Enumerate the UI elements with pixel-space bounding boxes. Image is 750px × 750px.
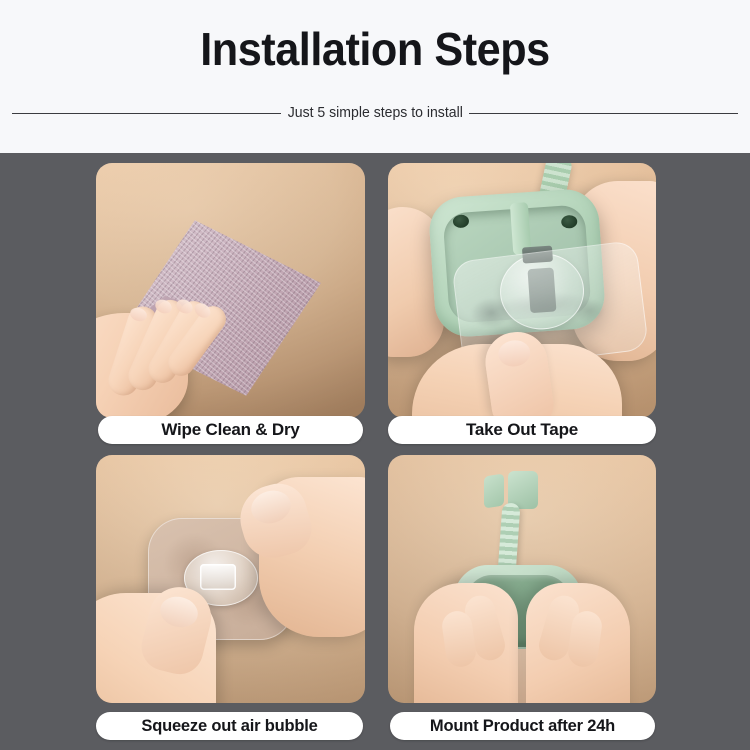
page-header: Installation Steps Just 5 simple steps t… [0, 0, 750, 153]
step-card-1[interactable] [96, 163, 365, 418]
wall-bracket-icon [484, 471, 538, 505]
step-photo-1 [96, 163, 365, 418]
installation-steps-page: Installation Steps Just 5 simple steps t… [0, 0, 750, 750]
hand-icon [414, 583, 518, 703]
step-label-text: Wipe Clean & Dry [161, 420, 299, 440]
step-card-2[interactable] [388, 163, 656, 418]
divider-left [12, 113, 281, 114]
page-title: Installation Steps [23, 22, 728, 76]
step-label-2: Take Out Tape [388, 416, 656, 444]
step-photo-3 [96, 455, 365, 703]
step-card-4[interactable] [388, 455, 656, 703]
step-label-1: Wipe Clean & Dry [98, 416, 363, 444]
step-photo-4 [388, 455, 656, 703]
step-label-text: Squeeze out air bubble [141, 717, 317, 736]
steps-grid: Wipe Clean & Dry Take Out Tape Squeeze o… [0, 153, 750, 750]
page-subtitle: Just 5 simple steps to install [284, 105, 467, 121]
step-label-text: Take Out Tape [466, 420, 578, 440]
divider-right [469, 113, 738, 114]
hand-icon [526, 583, 630, 703]
step-photo-2 [388, 163, 656, 418]
thumb-icon [96, 593, 216, 703]
subtitle-row: Just 5 simple steps to install [12, 100, 738, 126]
step-label-text: Mount Product after 24h [430, 717, 615, 736]
thumb-icon [259, 477, 365, 637]
mount-base-icon [427, 187, 606, 339]
step-label-3: Squeeze out air bubble [96, 712, 363, 740]
hand-icon [96, 275, 246, 418]
step-card-3[interactable] [96, 455, 365, 703]
step-label-4: Mount Product after 24h [390, 712, 655, 740]
